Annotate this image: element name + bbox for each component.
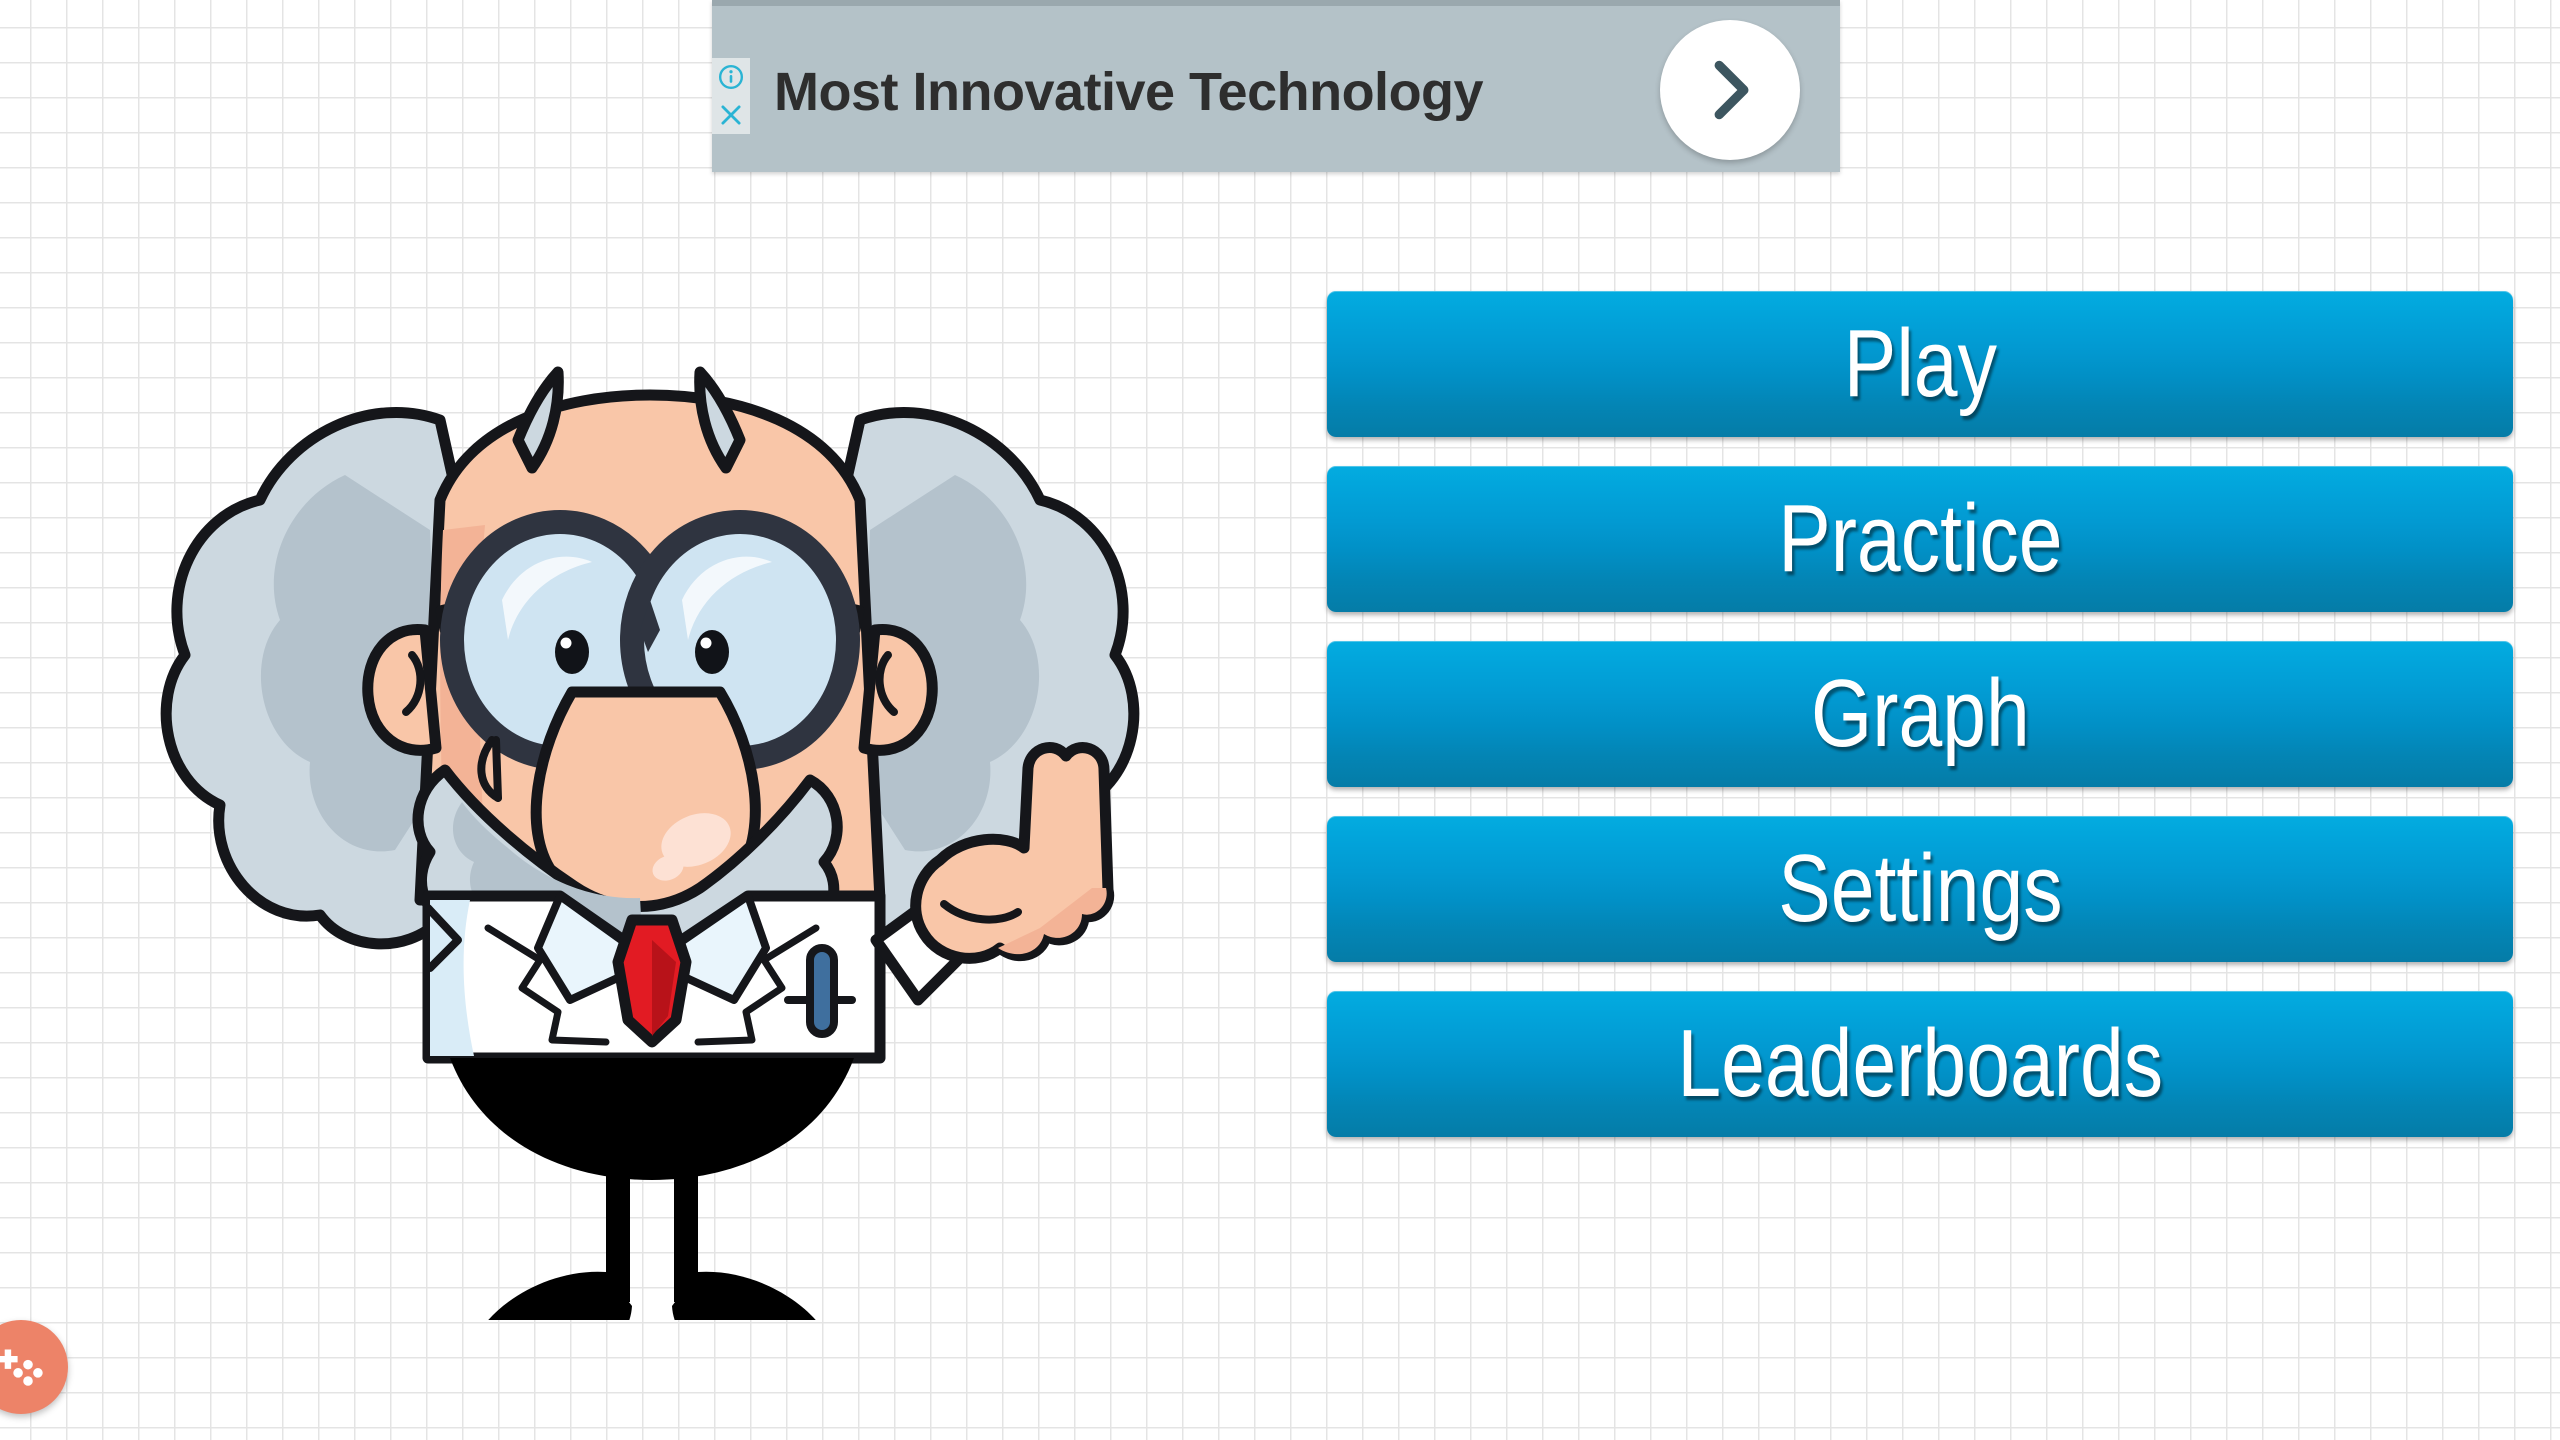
chevron-right-icon: [1693, 53, 1767, 127]
menu-button-play[interactable]: Play: [1327, 291, 2513, 437]
ad-close-button[interactable]: [712, 96, 750, 134]
ad-banner-icon-group: [712, 58, 750, 134]
menu-button-practice[interactable]: Practice: [1327, 466, 2513, 612]
ad-cta-button[interactable]: [1660, 20, 1800, 160]
menu-button-leaderboards[interactable]: Leaderboards: [1327, 991, 2513, 1137]
menu-button-settings-label: Settings: [1778, 841, 2062, 937]
floating-game-services-button[interactable]: [0, 1320, 68, 1414]
menu-button-play-label: Play: [1843, 316, 1996, 412]
ad-info-button[interactable]: [712, 58, 750, 96]
info-circle-icon: [718, 64, 744, 90]
menu-button-graph[interactable]: Graph: [1327, 641, 2513, 787]
menu-button-practice-label: Practice: [1778, 491, 2062, 587]
menu-button-settings[interactable]: Settings: [1327, 816, 2513, 962]
menu-button-leaderboards-label: Leaderboards: [1677, 1016, 2163, 1112]
professor-mascot-illustration: [140, 300, 1160, 1320]
gamepad-icon: [0, 1339, 49, 1395]
ad-headline-text: Most Innovative Technology: [774, 6, 1483, 178]
app-root: Most Innovative Technology Play Practice…: [0, 0, 2560, 1440]
close-x-icon: [718, 102, 744, 128]
menu-button-graph-label: Graph: [1811, 666, 2030, 762]
ad-banner[interactable]: Most Innovative Technology: [712, 0, 1840, 172]
main-menu: Play Practice Graph Settings Leaderboard…: [1327, 291, 2513, 1137]
